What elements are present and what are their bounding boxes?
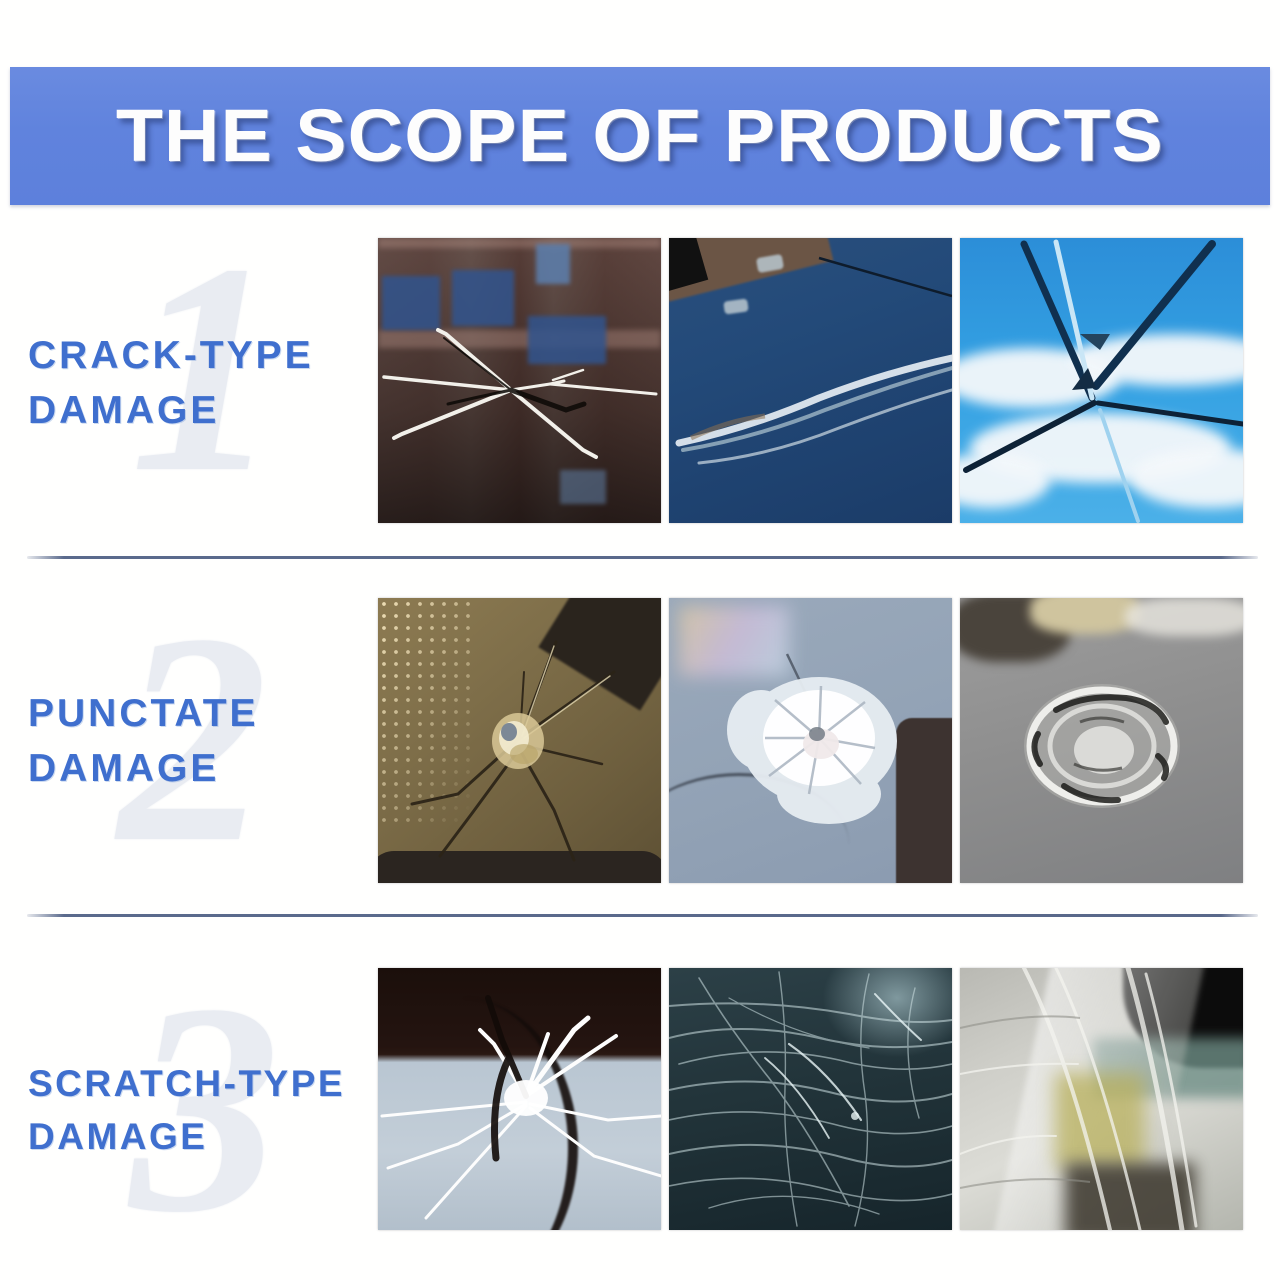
image-strip <box>378 598 1243 883</box>
image-tile-crack-long-blue <box>669 238 952 523</box>
section-title: PUNCTATE DAMAGE <box>28 686 259 797</box>
image-tile-crack-sky-clouds <box>960 238 1243 523</box>
section-title-line1: CRACK-TYPE <box>28 328 314 383</box>
section-divider <box>27 914 1258 917</box>
image-tile-scratch-headlight-haze <box>960 968 1243 1230</box>
section-scratch-type: 3 SCRATCH-TYPE DAMAGE <box>0 968 1280 1230</box>
section-title-line2: DAMAGE <box>28 741 259 796</box>
section-title: SCRATCH-TYPE DAMAGE <box>28 1058 345 1163</box>
crack-lines <box>378 238 661 523</box>
image-tile-crack-star-building <box>378 238 661 523</box>
section-title-line2: DAMAGE <box>28 1111 345 1164</box>
section-label-group: 3 SCRATCH-TYPE DAMAGE <box>0 968 375 1230</box>
header-banner: THE SCOPE OF PRODUCTS <box>10 67 1270 205</box>
section-title: CRACK-TYPE DAMAGE <box>28 328 314 439</box>
page-title: THE SCOPE OF PRODUCTS <box>116 99 1164 173</box>
section-title-line1: SCRATCH-TYPE <box>28 1058 345 1111</box>
section-label-group: 1 CRACK-TYPE DAMAGE <box>0 238 375 528</box>
section-label-group: 2 PUNCTATE DAMAGE <box>0 598 375 888</box>
scratch-lines <box>669 968 952 1230</box>
image-strip <box>378 238 1243 523</box>
scratch-lines <box>960 968 1243 1230</box>
crack-lines <box>378 968 661 1230</box>
impact-chip <box>960 598 1243 883</box>
section-title-line1: PUNCTATE <box>28 686 259 741</box>
section-punctate: 2 PUNCTATE DAMAGE <box>0 598 1280 888</box>
section-crack-type: 1 CRACK-TYPE DAMAGE <box>0 238 1280 528</box>
section-title-line2: DAMAGE <box>28 383 314 438</box>
crack-lines <box>960 238 1243 523</box>
crack-lines <box>378 598 661 883</box>
image-tile-scratch-star-split <box>378 968 661 1230</box>
image-tile-scratch-fine-lines-teal <box>669 968 952 1230</box>
crack-lines <box>669 238 952 523</box>
image-tile-punctate-bullseye-grey <box>960 598 1243 883</box>
section-divider <box>27 556 1258 559</box>
infographic-page: THE SCOPE OF PRODUCTS 1 CRACK-TYPE DAMAG… <box>0 0 1280 1280</box>
image-tile-punctate-brown-frit <box>378 598 661 883</box>
image-strip <box>378 968 1243 1230</box>
image-tile-punctate-bullseye-blue <box>669 598 952 883</box>
impact-chip <box>669 598 952 883</box>
